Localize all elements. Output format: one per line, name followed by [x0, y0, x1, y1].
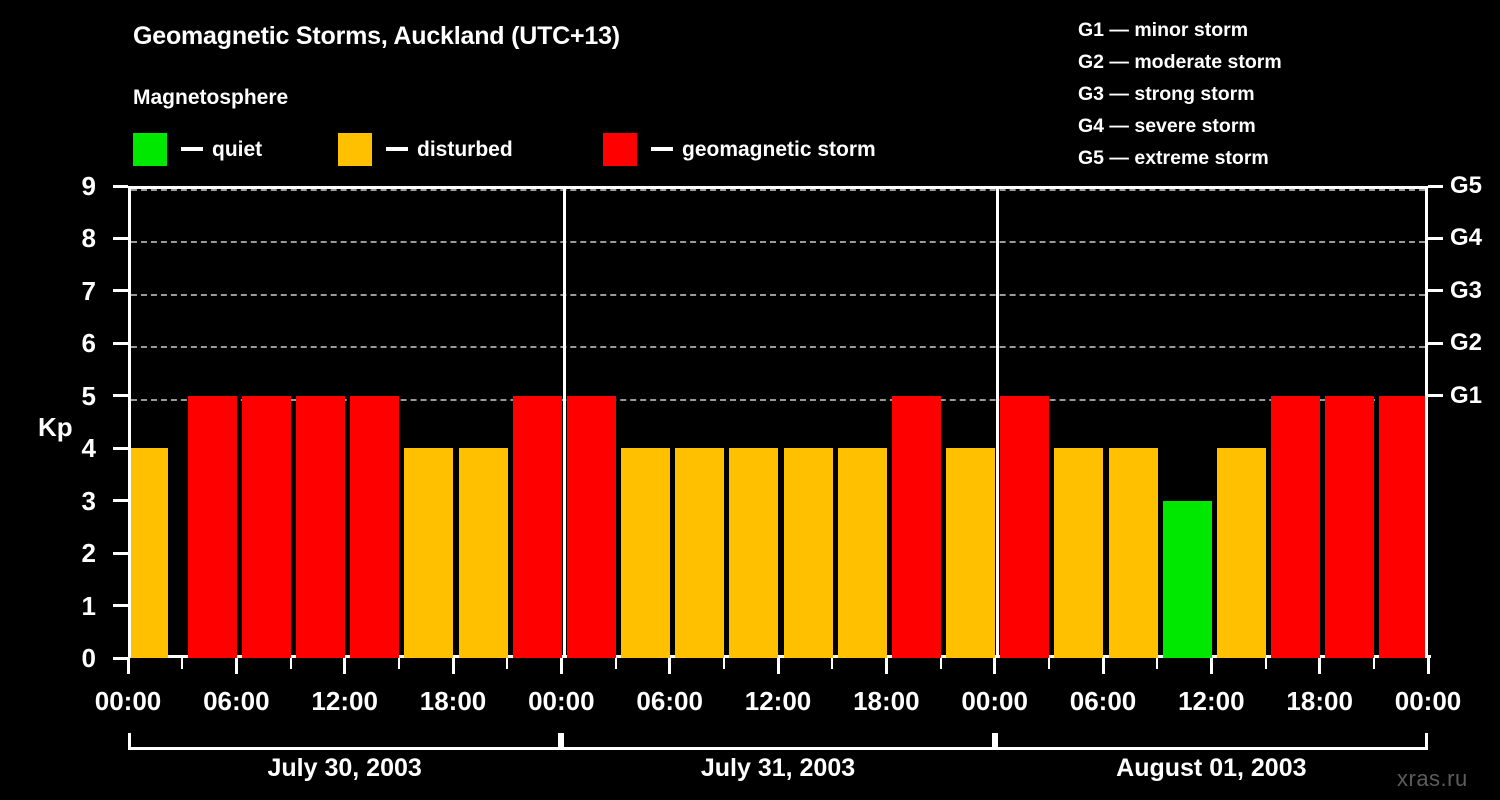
bar: [1271, 396, 1320, 658]
bar: [1379, 396, 1425, 658]
bar: [1325, 396, 1374, 658]
g-axis-tick: [1428, 289, 1443, 292]
y-axis-tick: [113, 447, 128, 450]
legend-swatch-quiet-icon: [133, 133, 167, 166]
y-axis-tick: [113, 185, 128, 188]
x-axis-tick: [506, 658, 508, 669]
x-axis-tick: [398, 658, 400, 669]
x-axis-tick: [940, 658, 942, 669]
g-axis-tick: [1428, 185, 1443, 188]
bar: [242, 396, 291, 658]
bar: [621, 448, 670, 658]
bar: [675, 448, 724, 658]
bar: [404, 448, 453, 658]
y-axis-tick: [113, 342, 128, 345]
y-axis-label: 2: [66, 540, 96, 566]
date-label: August 01, 2003: [1116, 754, 1306, 783]
x-axis-label: 00:00: [528, 686, 595, 717]
page-title: Geomagnetic Storms, Auckland (UTC+13): [133, 22, 620, 51]
g-scale-row: G5 — extreme storm: [1078, 142, 1282, 174]
bar: [1054, 448, 1103, 658]
x-axis-tick: [668, 658, 671, 674]
x-axis-label: 18:00: [853, 686, 920, 717]
plot-inner: [131, 189, 1425, 658]
x-axis-tick: [1156, 658, 1158, 669]
y-axis-label: 4: [66, 435, 96, 461]
y-axis-label: 6: [66, 330, 96, 356]
y-axis-label: 7: [66, 278, 96, 304]
x-axis-label: 06:00: [203, 686, 270, 717]
x-axis-tick: [560, 658, 563, 674]
bar: [131, 448, 168, 658]
bar: [567, 396, 616, 658]
g-scale-legend: G1 — minor stormG2 — moderate stormG3 — …: [1078, 14, 1282, 174]
bar: [838, 448, 887, 658]
x-axis-tick: [1102, 658, 1105, 674]
x-axis-tick: [1427, 658, 1430, 674]
x-axis-label: 12:00: [311, 686, 378, 717]
x-axis-tick: [777, 658, 780, 674]
legend-dash-icon: [181, 147, 203, 151]
x-axis-tick: [181, 658, 183, 669]
bar: [513, 396, 562, 658]
bar: [1109, 448, 1158, 658]
g-axis-tick: [1428, 394, 1443, 397]
g-axis-label: G5: [1450, 174, 1482, 198]
legend-item-quiet: quiet: [133, 132, 262, 166]
plot-area: [128, 186, 1428, 658]
g-axis-label: G4: [1450, 226, 1482, 250]
date-bracket: [561, 733, 994, 747]
x-axis-label: 18:00: [420, 686, 487, 717]
bar: [296, 396, 345, 658]
legend-item-disturbed: disturbed: [338, 132, 513, 166]
x-axis-tick: [1373, 658, 1375, 669]
gridline: [131, 294, 1425, 296]
g-scale-row: G2 — moderate storm: [1078, 46, 1282, 78]
date-bracket: [128, 733, 561, 747]
day-separator: [996, 189, 999, 658]
y-axis-tick: [113, 499, 128, 502]
x-axis-label: 06:00: [1070, 686, 1137, 717]
gridline: [131, 346, 1425, 348]
y-axis-tick: [113, 289, 128, 292]
x-axis-tick: [1318, 658, 1321, 674]
bar: [1163, 501, 1212, 658]
bar: [188, 396, 237, 658]
g-axis-label: G1: [1450, 384, 1482, 408]
magnetosphere-label: Magnetosphere: [133, 86, 288, 110]
bar: [892, 396, 941, 658]
y-axis-tick: [113, 604, 128, 607]
x-axis-tick: [723, 658, 725, 669]
x-axis-tick: [343, 658, 346, 674]
x-axis-label: 00:00: [1395, 686, 1462, 717]
x-axis-tick: [1048, 658, 1050, 669]
bar: [459, 448, 508, 658]
y-axis-label: 5: [66, 383, 96, 409]
date-label: July 30, 2003: [268, 754, 422, 783]
bar: [946, 448, 995, 658]
g-axis-label: G3: [1450, 279, 1482, 303]
x-axis-tick: [235, 658, 238, 674]
x-axis-label: 12:00: [745, 686, 812, 717]
watermark: xras.ru: [1397, 766, 1468, 792]
x-axis-label: 00:00: [961, 686, 1028, 717]
legend-label: geomagnetic storm: [682, 139, 876, 160]
y-axis-tick: [113, 237, 128, 240]
g-axis-label: G2: [1450, 331, 1482, 355]
x-axis-tick: [1210, 658, 1213, 674]
legend-dash-icon: [386, 147, 408, 151]
gridline: [131, 189, 1425, 191]
legend-swatch-geomagnetic-storm-icon: [603, 133, 637, 166]
bar: [729, 448, 778, 658]
bar: [1000, 396, 1049, 658]
x-axis-label: 12:00: [1178, 686, 1245, 717]
x-axis-tick: [993, 658, 996, 674]
g-axis-tick: [1428, 237, 1443, 240]
g-axis-tick: [1428, 342, 1443, 345]
g-scale-row: G1 — minor storm: [1078, 14, 1282, 46]
x-axis-tick: [127, 658, 130, 674]
y-axis-tick: [113, 394, 128, 397]
bar: [1217, 448, 1266, 658]
x-axis-tick: [615, 658, 617, 669]
legend-label: quiet: [212, 139, 262, 160]
g-scale-row: G4 — severe storm: [1078, 110, 1282, 142]
legend-label: disturbed: [417, 139, 513, 160]
y-axis-tick: [113, 552, 128, 555]
day-separator: [563, 189, 566, 658]
x-axis-label: 00:00: [95, 686, 162, 717]
legend-dash-icon: [651, 147, 673, 151]
x-axis-label: 18:00: [1286, 686, 1353, 717]
bar: [784, 448, 833, 658]
y-axis-label: 1: [66, 593, 96, 619]
bar: [350, 396, 399, 658]
y-axis-label: 0: [66, 645, 96, 671]
x-axis-label: 06:00: [636, 686, 703, 717]
gridline: [131, 241, 1425, 243]
y-axis-label: 3: [66, 488, 96, 514]
legend-swatch-disturbed-icon: [338, 133, 372, 166]
legend-item-geomagnetic-storm: geomagnetic storm: [603, 132, 876, 166]
y-axis-label: 9: [66, 173, 96, 199]
x-axis-tick: [885, 658, 888, 674]
x-axis-tick: [831, 658, 833, 669]
x-axis-tick: [290, 658, 292, 669]
date-label: July 31, 2003: [701, 754, 855, 783]
x-axis-tick: [1265, 658, 1267, 669]
x-axis-tick: [452, 658, 455, 674]
y-axis-label: 8: [66, 225, 96, 251]
date-bracket: [995, 733, 1428, 747]
g-scale-row: G3 — strong storm: [1078, 78, 1282, 110]
